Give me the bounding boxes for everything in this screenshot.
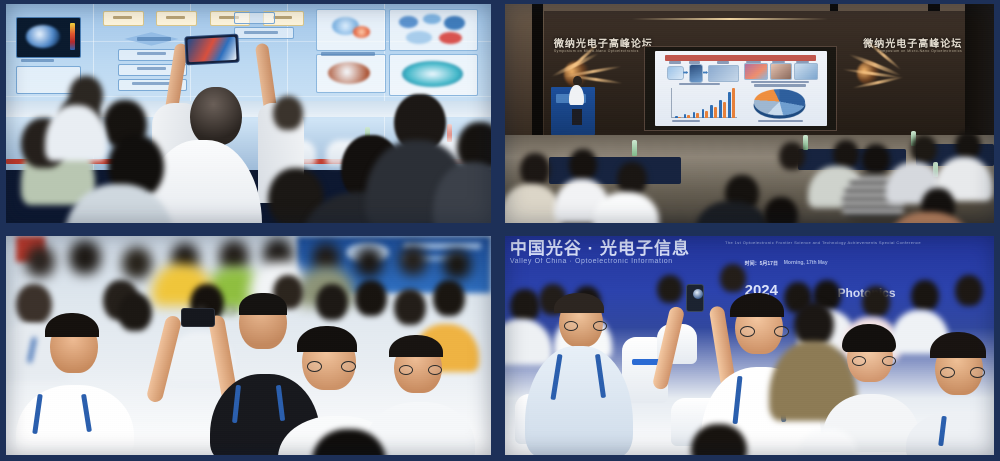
photo-panel-bottom-left: [6, 236, 491, 455]
backdrop-date-en: Morning, 17th May: [784, 260, 828, 266]
forum-subtitle-left: Symposium on Micro-Nano Optoelectronics: [554, 49, 639, 53]
backdrop-title-cn: 中国光谷 · 光电子信息: [510, 236, 690, 259]
forum-title-left: 微纳光电子高峰论坛: [554, 35, 653, 50]
photo-collage: 微纳光电子高峰论坛 Symposium on Micro-Nano Optoel…: [0, 0, 1000, 461]
presentation-slide: [655, 51, 827, 126]
backdrop-title-en: Valley Of China · Optoelectronic Informa…: [510, 258, 673, 265]
projection-screen: [644, 46, 837, 131]
backdrop-date-cn: 时间：5月17日: [745, 260, 778, 267]
forum-subtitle-right: Symposium on Micro-Nano Optoelectronics: [877, 49, 962, 53]
photo-panel-top-left: [6, 4, 491, 223]
smartphone: [181, 308, 215, 327]
photo-panel-bottom-right: 中国光谷 · 光电子信息 Valley Of China · Optoelect…: [505, 236, 994, 455]
smartphone: [185, 33, 240, 65]
slide-pie-chart: [753, 89, 807, 115]
forum-title-right: 微纳光电子高峰论坛: [863, 35, 962, 50]
photo-panel-top-right: 微纳光电子高峰论坛 Symposium on Micro-Nano Optoel…: [505, 4, 994, 223]
backdrop-subtitle-en: The 1st Optoelectronic Frontier Science …: [725, 240, 921, 245]
slide-bar-chart: [669, 88, 738, 118]
